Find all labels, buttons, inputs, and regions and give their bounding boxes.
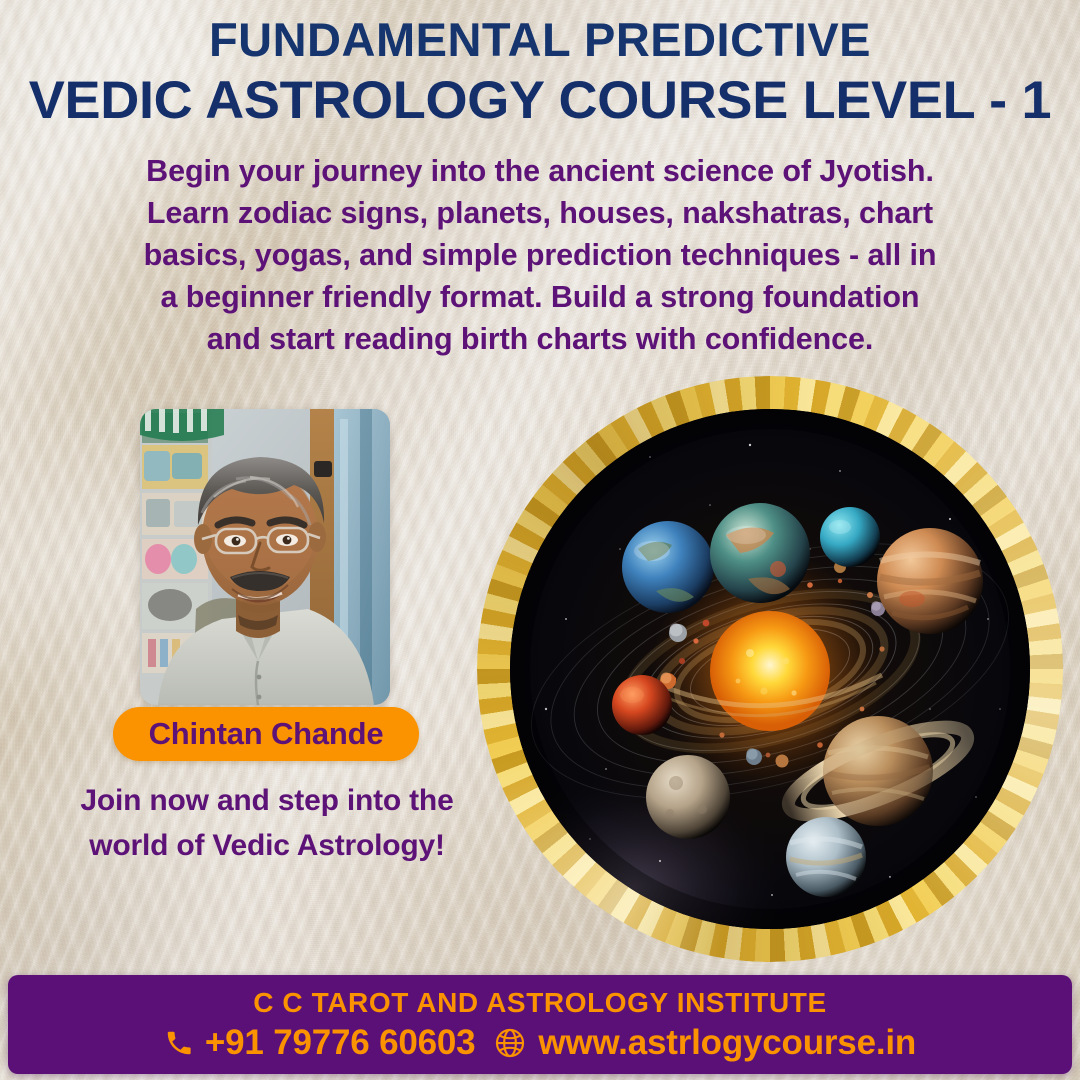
globe-icon — [493, 1026, 527, 1060]
description-line-2: Learn zodiac signs, planets, houses, nak… — [72, 192, 1008, 234]
space-disc — [510, 409, 1030, 929]
description-line-1: Begin your journey into the ancient scie… — [72, 150, 1008, 192]
description-line-5: and start reading birth charts with conf… — [72, 318, 1008, 360]
poster-root: FUNDAMENTAL PREDICTIVE VEDIC ASTROLOGY C… — [0, 0, 1080, 1080]
solar-system-illustration — [510, 409, 1030, 929]
cta-line-2: world of Vedic Astrology! — [42, 823, 492, 868]
instructor-photo — [140, 409, 390, 705]
phone-contact[interactable]: +91 79776 60603 — [164, 1023, 475, 1063]
institute-name: C C TAROT AND ASTROLOGY INSTITUTE — [253, 987, 827, 1019]
footer-contact-row: +91 79776 60603 www.astrlogycourse.in — [164, 1023, 916, 1063]
call-to-action: Join now and step into the world of Vedi… — [42, 778, 492, 868]
phone-number: +91 79776 60603 — [205, 1023, 475, 1063]
website-contact[interactable]: www.astrlogycourse.in — [493, 1023, 916, 1063]
footer-bar: C C TAROT AND ASTROLOGY INSTITUTE +91 79… — [8, 975, 1072, 1074]
portrait-illustration — [140, 409, 390, 705]
title-line-2: VEDIC ASTROLOGY COURSE LEVEL - 1 — [0, 71, 1080, 130]
title-line-1: FUNDAMENTAL PREDICTIVE — [0, 14, 1080, 67]
phone-icon — [164, 1028, 194, 1058]
description-line-4: a beginner friendly format. Build a stro… — [72, 276, 1008, 318]
description-line-3: basics, yogas, and simple prediction tec… — [72, 234, 1008, 276]
page-title: FUNDAMENTAL PREDICTIVE VEDIC ASTROLOGY C… — [0, 14, 1080, 130]
cta-line-1: Join now and step into the — [42, 778, 492, 823]
solar-system-graphic — [477, 376, 1063, 962]
instructor-name-badge: Chintan Chande — [113, 707, 419, 761]
instructor-name: Chintan Chande — [149, 716, 384, 752]
course-description: Begin your journey into the ancient scie… — [72, 150, 1008, 360]
website-url: www.astrlogycourse.in — [538, 1023, 916, 1063]
